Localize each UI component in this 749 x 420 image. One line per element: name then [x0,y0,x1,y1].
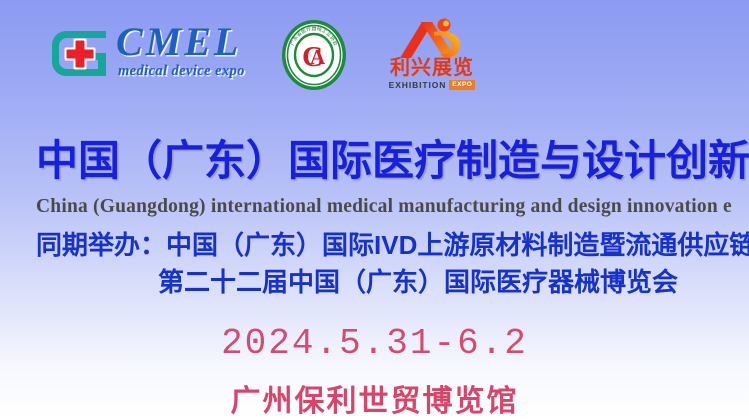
subtitle-concurrent-event: 同期举办：中国（广东）国际IVD上游原材料制造暨流通供应链 [36,231,749,260]
logo-row: CMEL medical device expo 广东省医疗器械工业协会 C A [0,0,749,108]
lixing-chinese-name: 利兴展览 [382,58,482,79]
cmel-wordmark: CMEL medical device expo [116,22,276,79]
event-date: 2024.5.31-6.2 [0,323,749,364]
lixing-english-name: EXHIBITION [389,80,447,90]
event-venue: 广州保利世贸博览馆 [0,376,749,420]
circular-seal-icon: 广东省医疗器械工业协会 C A [281,19,347,91]
ca-seal-logo: 广东省医疗器械工业协会 C A [281,19,347,91]
lixing-x-figure-icon [396,18,468,60]
page-title-chinese: 中国（广东）国际医疗制造与设计创新展 [36,139,749,183]
cmel-logo: CMEL medical device expo [50,24,275,86]
lixing-logo: 利兴展览 EXHIBITION EXPO [382,18,482,92]
cmel-tagline: medical device expo [118,64,276,79]
exhibition-banner: CMEL medical device expo 广东省医疗器械工业协会 C A [0,0,749,420]
lixing-expo-badge: EXPO [449,80,475,90]
medical-cross-g-icon [50,24,112,82]
cmel-name: CMEL [116,22,276,62]
lixing-english-row: EXHIBITION EXPO [382,80,482,90]
subtitle-expo-edition: 第二十二届中国（广东）国际医疗器械博览会 [158,268,678,297]
page-title-english: China (Guangdong) international medical … [36,196,732,218]
svg-text:A: A [310,45,326,69]
